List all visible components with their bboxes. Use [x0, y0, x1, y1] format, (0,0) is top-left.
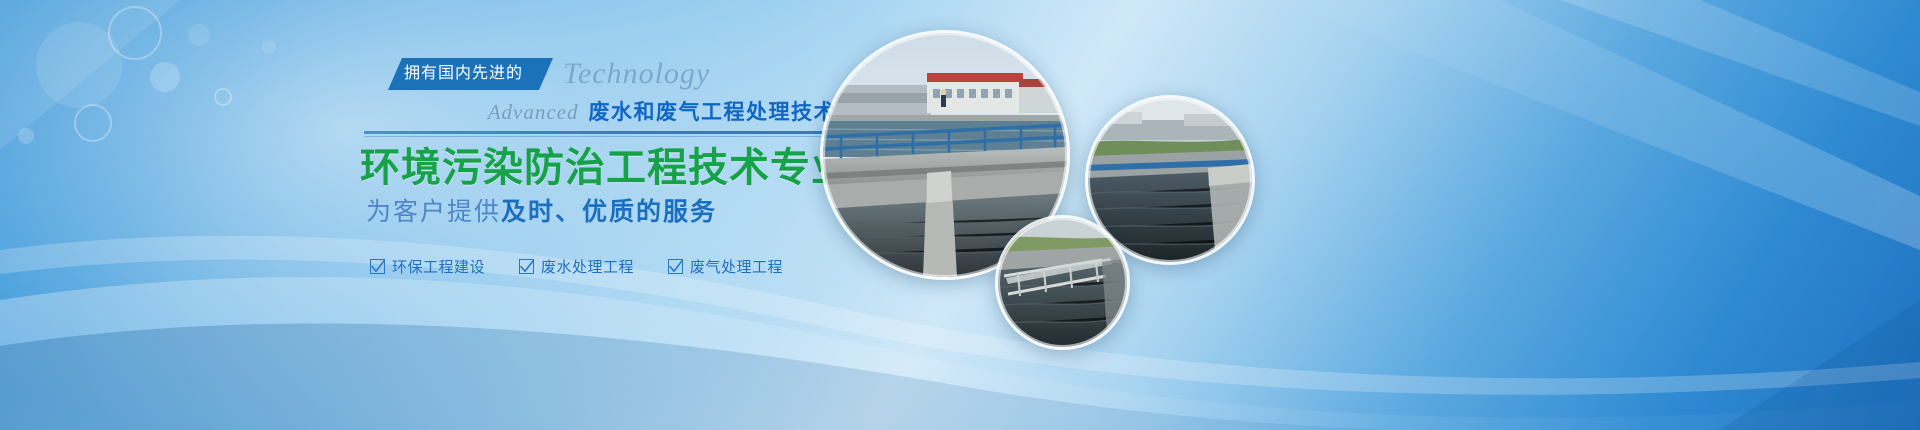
tagline-row: 拥有国内先进的 Technology	[360, 58, 840, 92]
tagline-badge: 拥有国内先进的	[388, 58, 553, 90]
feature-label: 环保工程建设	[392, 256, 485, 277]
bubble-decor	[214, 88, 232, 106]
bubble-decor	[262, 40, 276, 54]
list-item: 废水处理工程	[519, 256, 634, 277]
bubble-decor	[18, 128, 34, 144]
check-icon	[370, 259, 385, 274]
list-item: 废气处理工程	[668, 256, 783, 277]
subtitle-chinese-text: 废水和废气工程处理技术	[589, 96, 837, 126]
subline-bold-text: 及时、优质的服务	[501, 197, 717, 226]
advanced-row: Advanced 废水和废气工程处理技术	[360, 96, 840, 126]
advanced-accent-text: Advanced	[488, 100, 579, 125]
walkway-basin-photo	[995, 215, 1130, 350]
divider-rule-thin	[364, 136, 836, 137]
bubble-decor	[74, 104, 112, 142]
check-icon	[668, 259, 683, 274]
subline-light-text: 为客户提供	[366, 197, 501, 226]
banner-text-block: 拥有国内先进的 Technology Advanced 废水和废气工程处理技术 …	[360, 58, 840, 277]
promo-banner: 拥有国内先进的 Technology Advanced 废水和废气工程处理技术 …	[0, 0, 1920, 430]
technology-accent-text: Technology	[563, 58, 710, 90]
bubble-decor	[188, 24, 210, 46]
page-title: 环境污染防治工程技术专业顾问	[360, 145, 840, 191]
bubble-decor	[150, 62, 180, 92]
list-item: 环保工程建设	[370, 256, 485, 277]
feature-list: 环保工程建设 废水处理工程 废气处理工程	[370, 256, 840, 277]
subline: 为客户提供及时、优质的服务	[366, 197, 840, 230]
bubble-decor	[108, 6, 162, 60]
bubble-decor	[36, 22, 122, 108]
feature-label: 废气处理工程	[690, 256, 783, 277]
feature-label: 废水处理工程	[541, 256, 634, 277]
check-icon	[519, 259, 534, 274]
divider-rule	[364, 131, 836, 134]
